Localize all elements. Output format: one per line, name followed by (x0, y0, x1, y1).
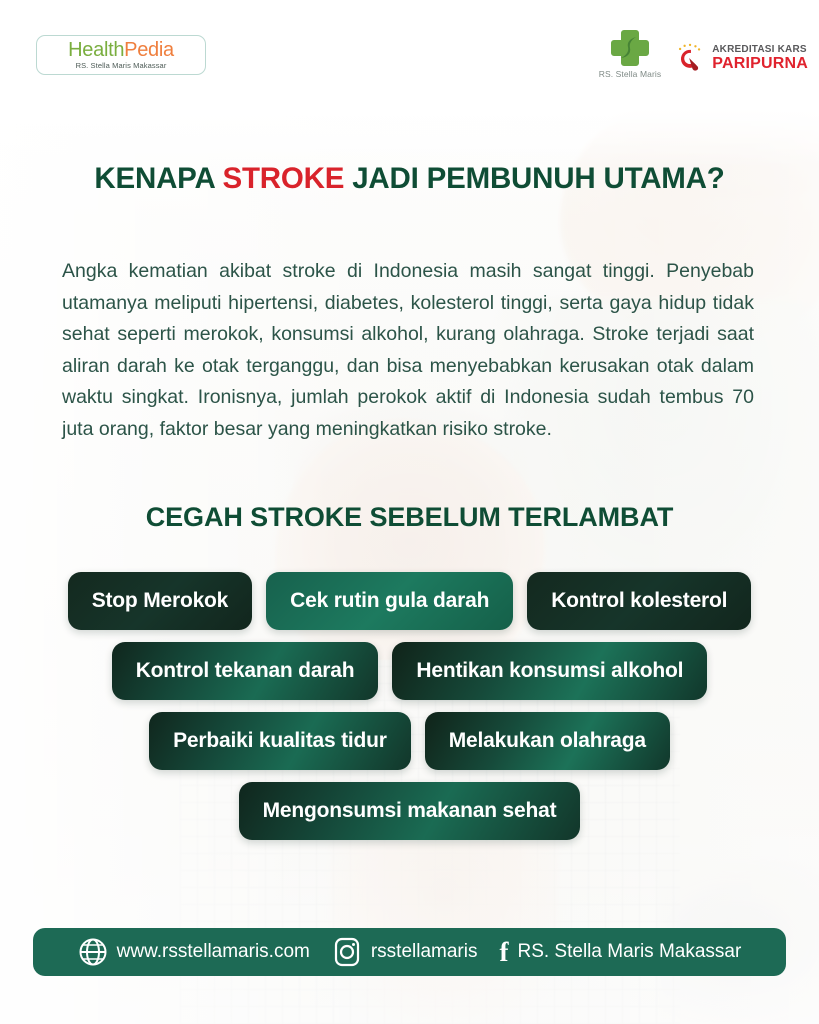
prevention-row: Stop Merokok Cek rutin gula darah Kontro… (0, 572, 819, 630)
hospital-logo-name: RS. Stella Maris (588, 69, 672, 79)
accreditation-line2: PARIPURNA (712, 56, 808, 72)
footer-website-label: www.rsstellamaris.com (117, 941, 310, 963)
facebook-icon: f (499, 939, 508, 966)
healthpedia-subtitle: RS. Stella Maris Makassar (76, 61, 167, 70)
prevention-row: Perbaiki kualitas tidur Melakukan olahra… (0, 712, 819, 770)
healthpedia-word-pedia: Pedia (124, 39, 174, 61)
healthpedia-wordmark: HealthPedia (68, 40, 174, 60)
accreditation-text: AKREDITASI KARS PARIPURNA (712, 45, 808, 72)
prevention-pill[interactable]: Melakukan olahraga (425, 712, 670, 770)
footer-instagram[interactable]: rsstellamaris (332, 937, 478, 967)
prevention-row: Mengonsumsi makanan sehat (0, 782, 819, 840)
prevention-pill[interactable]: Cek rutin gula darah (266, 572, 513, 630)
prevention-pill[interactable]: Hentikan konsumsi alkohol (392, 642, 707, 700)
poster-header: HealthPedia RS. Stella Maris Makassar RS… (0, 0, 819, 110)
green-medical-cross-icon (609, 28, 651, 68)
footer-facebook-label: RS. Stella Maris Makassar (517, 941, 741, 963)
footer-instagram-label: rsstellamaris (371, 941, 478, 963)
instagram-icon (332, 937, 362, 967)
prevention-pill[interactable]: Kontrol kolesterol (527, 572, 751, 630)
prevention-pill[interactable]: Perbaiki kualitas tidur (149, 712, 411, 770)
headline-part2: JADI PEMBUNUH UTAMA? (344, 162, 724, 195)
prevention-pill[interactable]: Stop Merokok (68, 572, 252, 630)
page-title: KENAPA STROKE JADI PEMBUNUH UTAMA? (0, 162, 819, 196)
healthpedia-word-health: Health (68, 39, 124, 61)
footer-facebook[interactable]: f RS. Stella Maris Makassar (499, 939, 741, 966)
footer-website[interactable]: www.rsstellamaris.com (78, 937, 310, 967)
globe-icon (78, 937, 108, 967)
hospital-logo: RS. Stella Maris (588, 28, 672, 84)
infographic-poster: HealthPedia RS. Stella Maris Makassar RS… (0, 0, 819, 1024)
kars-paripurna-icon (672, 39, 706, 77)
body-paragraph: Angka kematian akibat stroke di Indonesi… (62, 256, 754, 445)
section-subheading: CEGAH STROKE SEBELUM TERLAMBAT (0, 502, 819, 533)
prevention-tips-list: Stop Merokok Cek rutin gula darah Kontro… (0, 572, 819, 852)
headline-part1: KENAPA (94, 162, 222, 195)
accreditation-logo: AKREDITASI KARS PARIPURNA (672, 36, 808, 80)
contact-footer: www.rsstellamaris.com rsstellamaris f RS… (33, 928, 786, 976)
headline-highlight: STROKE (222, 162, 344, 195)
healthpedia-logo: HealthPedia RS. Stella Maris Makassar (36, 35, 206, 75)
prevention-row: Kontrol tekanan darah Hentikan konsumsi … (0, 642, 819, 700)
prevention-pill[interactable]: Mengonsumsi makanan sehat (239, 782, 581, 840)
accreditation-line1: AKREDITASI KARS (712, 45, 808, 55)
prevention-pill[interactable]: Kontrol tekanan darah (112, 642, 379, 700)
